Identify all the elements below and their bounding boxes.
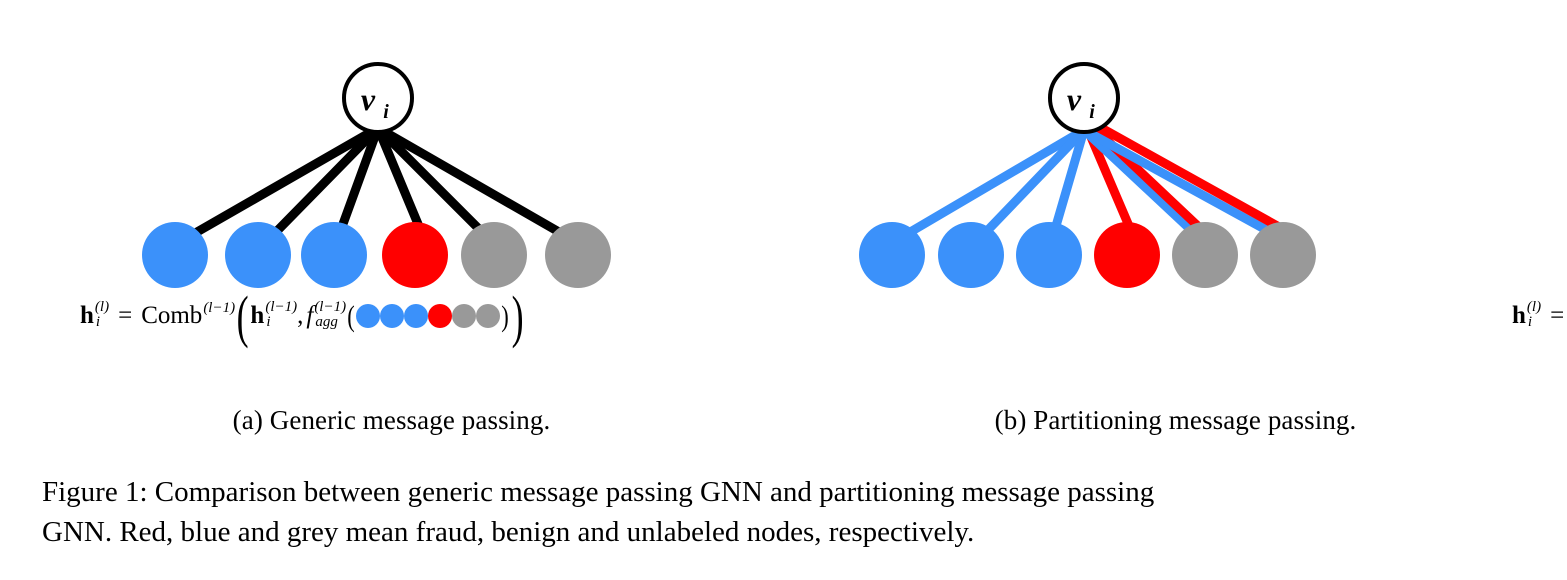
formula-generic-message-passing: h(l)i = Comb(l−1) ( h(l−1)i , f(l−1)agg … bbox=[80, 300, 525, 332]
panel-partitioning-message-passing: v i h(l)i = Comb(l−1) ( h(l−1)v , f(l−1)… bbox=[784, 0, 1567, 460]
formula-a-lhs-sup: (l) bbox=[95, 300, 109, 315]
neighbor-node-unlabeled-4 bbox=[461, 222, 527, 288]
formula-a-dot-list bbox=[356, 304, 500, 328]
figure-container: v i h(l)i = Comb(l−1) ( h(l−1)i , f(l−1)… bbox=[0, 0, 1567, 580]
panel-generic-message-passing: v i h(l)i = Comb(l−1) ( h(l−1)i , f(l−1)… bbox=[0, 0, 783, 460]
formula-a-lhs-sub: i bbox=[95, 315, 109, 330]
formula-a-fn-sup: (l−1) bbox=[314, 300, 346, 315]
neighbor-node-unlabeled-4 bbox=[1172, 222, 1238, 288]
neighbor-node-benign-2 bbox=[1016, 222, 1082, 288]
neighbor-node-unlabeled-5 bbox=[1250, 222, 1316, 288]
formula-b-lhs: h(l)i bbox=[1512, 301, 1541, 332]
neighbor-node-benign-0 bbox=[142, 222, 208, 288]
formula-a-arg1: h(l−1)i bbox=[250, 301, 297, 332]
formula-a-lhs: h(l)i bbox=[80, 301, 109, 332]
formula-dot-benign bbox=[356, 304, 380, 328]
formula-a-fn-close-paren: ) bbox=[501, 305, 509, 329]
neighbor-node-unlabeled-5 bbox=[545, 222, 611, 288]
figure-caption: Figure 1: Comparison between generic mes… bbox=[42, 472, 1532, 552]
neighbor-node-benign-1 bbox=[938, 222, 1004, 288]
graph-diagram-generic: v i bbox=[0, 0, 783, 300]
formula-a-comb-label: Comb bbox=[141, 303, 202, 328]
center-node-label-subscript: i bbox=[383, 101, 389, 123]
formula-dot-benign bbox=[380, 304, 404, 328]
formula-partitioning-message-passing: h(l)i = Comb(l−1) ( h(l−1)v , f(l−1)be (… bbox=[1512, 300, 1567, 332]
neighbor-node-benign-0 bbox=[859, 222, 925, 288]
subcaption-panel-b: (b) Partitioning message passing. bbox=[784, 405, 1567, 436]
formula-a-comb: Comb(l−1) bbox=[141, 303, 235, 328]
formula-dot-benign bbox=[404, 304, 428, 328]
edge-group-generic bbox=[197, 128, 559, 232]
formula-a-fn-sub: agg bbox=[314, 315, 346, 330]
formula-a-comb-sup: (l−1) bbox=[203, 301, 235, 316]
formula-a-comma-1: , bbox=[297, 303, 303, 328]
formula-a-arg1-sup: (l−1) bbox=[265, 300, 297, 315]
neighbor-node-fraud-3 bbox=[1094, 222, 1160, 288]
neighbor-node-benign-1 bbox=[225, 222, 291, 288]
formula-a-lhs-base: h bbox=[80, 303, 94, 328]
center-node-label: v bbox=[361, 81, 376, 117]
center-node-circle bbox=[344, 64, 412, 132]
formula-a-fn-agg: f(l−1)agg bbox=[306, 301, 346, 332]
graph-diagram-partitioning: v i bbox=[784, 0, 1567, 300]
neighbor-node-group-partitioning bbox=[859, 222, 1316, 288]
formula-a-fn-open-paren: ( bbox=[347, 305, 355, 329]
formula-dot-fraud bbox=[428, 304, 452, 328]
neighbor-node-fraud-3 bbox=[382, 222, 448, 288]
formula-a-close-paren: ) bbox=[512, 301, 524, 333]
subcaption-panel-a: (a) Generic message passing. bbox=[0, 405, 873, 436]
figure-caption-line-2: GNN. Red, blue and grey mean fraud, beni… bbox=[42, 512, 1532, 552]
formula-b-lhs-base: h bbox=[1512, 303, 1526, 328]
figure-caption-line-1: Figure 1: Comparison between generic mes… bbox=[42, 472, 1532, 512]
neighbor-node-group-generic bbox=[142, 222, 611, 288]
formula-dot-unlabeled bbox=[452, 304, 476, 328]
formula-a-fn-base: f bbox=[306, 303, 313, 328]
formula-a-open-paren: ( bbox=[237, 301, 249, 333]
center-node-label: v bbox=[1067, 81, 1082, 117]
center-node-circle bbox=[1050, 64, 1118, 132]
edge-group-partitioning bbox=[912, 125, 1281, 232]
formula-b-lhs-sub: i bbox=[1527, 315, 1541, 330]
formula-a-equals: = bbox=[118, 303, 132, 328]
formula-b-lhs-sup: (l) bbox=[1527, 300, 1541, 315]
formula-a-arg1-base: h bbox=[250, 303, 264, 328]
center-node-label-subscript: i bbox=[1089, 101, 1095, 123]
neighbor-node-benign-2 bbox=[301, 222, 367, 288]
formula-dot-unlabeled bbox=[476, 304, 500, 328]
formula-b-equals: = bbox=[1550, 303, 1564, 328]
formula-a-arg1-sub: i bbox=[265, 315, 297, 330]
